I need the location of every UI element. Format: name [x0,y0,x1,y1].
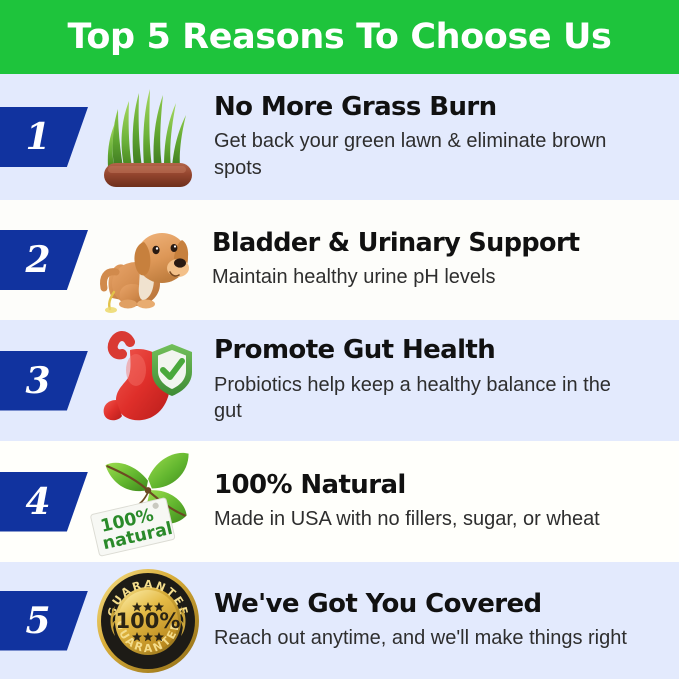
reason-body-5: Reach out anytime, and we'll make things… [214,625,634,651]
reason-text-3: Promote Gut Health Probiotics help keep … [206,336,679,424]
guarantee-seal-glyph: GUARANTEE GUARANTEE [95,568,201,674]
reason-title-2: Bladder & Urinary Support [212,229,671,257]
reason-text-1: No More Grass Burn Get back your green l… [206,93,679,181]
reason-title-3: Promote Gut Health [214,336,671,365]
rank-badge-3: 3 [0,351,88,411]
rank-number-5: 5 [25,603,50,639]
reason-title-1: No More Grass Burn [214,93,671,122]
stomach-shield-check-icon [90,326,206,436]
reason-body-3: Probiotics help keep a healthy balance i… [214,372,634,425]
rank-badge-5: 5 [0,591,88,651]
header-banner: Top 5 Reasons To Choose Us [0,0,679,74]
leaf-natural-tag-icon: 100% natural [90,447,206,557]
puppy-dog-glyph [92,206,204,314]
gold-guarantee-seal-icon: GUARANTEE GUARANTEE [90,566,206,676]
reason-title-4: 100% Natural [214,471,671,500]
infographic-poster: Top 5 Reasons To Choose Us 1 [0,0,679,679]
rank-number-3: 3 [25,363,50,399]
rank-badge-1: 1 [0,107,88,167]
reason-row-1: 1 [0,74,679,200]
reason-row-5: 5 [0,562,679,679]
rank-number-4: 4 [25,484,50,520]
grass-planter-glyph [94,83,202,191]
seal-center-text: 100% [116,609,181,633]
rank-badge-2: 2 [0,230,88,290]
rank-number-1: 1 [25,119,50,155]
rank-number-2: 2 [25,242,50,278]
reason-text-4: 100% Natural Made in USA with no fillers… [206,471,679,533]
grass-planter-icon [90,82,206,192]
rank-badge-4: 4 [0,472,88,532]
reason-text-5: We've Got You Covered Reach out anytime,… [206,590,679,652]
page-title: Top 5 Reasons To Choose Us [68,17,612,57]
reason-row-2: 2 [0,200,679,320]
reason-row-3: 3 [0,320,679,441]
reason-body-1: Get back your green lawn & eliminate bro… [214,128,634,181]
reason-row-4: 4 100% [0,441,679,562]
reason-body-4: Made in USA with no fillers, sugar, or w… [214,506,634,532]
reason-title-5: We've Got You Covered [214,590,671,619]
stomach-shield-glyph [94,326,202,436]
reason-body-2: Maintain healthy urine pH levels [212,264,632,290]
reason-text-2: Bladder & Urinary Support Maintain healt… [206,229,679,290]
leaf-tag-glyph: 100% natural [90,446,206,558]
puppy-dog-icon [90,205,206,315]
